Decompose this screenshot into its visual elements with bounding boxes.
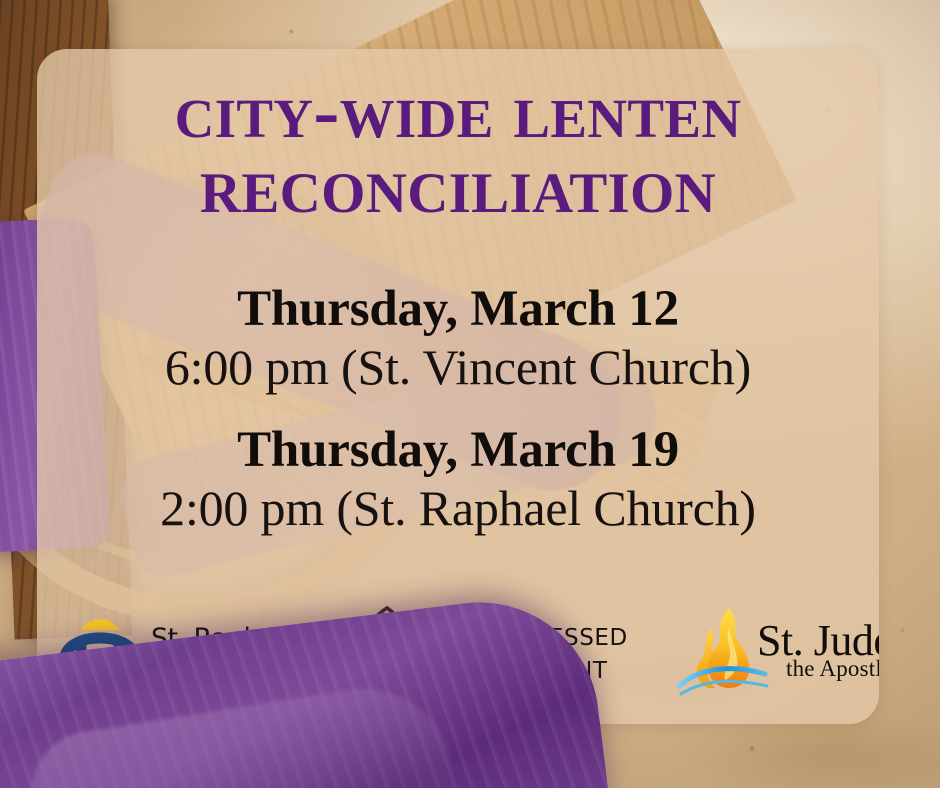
event-date: Thursday, March 19 (37, 422, 879, 479)
poster-canvas: City-Wide Lenten Reconciliation Thursday… (0, 0, 940, 788)
page-title: City-Wide Lenten Reconciliation (37, 75, 879, 222)
flame-with-blue-swoosh-icon (685, 602, 761, 698)
event-item: Thursday, March 19 2:00 pm (St. Raphael … (37, 422, 879, 537)
event-location: 2:00 pm (St. Raphael Church) (37, 479, 879, 537)
logo-wordmark: St. Jude the Apostle (757, 621, 879, 679)
event-location: 6:00 pm (St. Vincent Church) (37, 338, 879, 396)
event-list: Thursday, March 12 6:00 pm (St. Vincent … (37, 281, 879, 537)
title-line-1: City-Wide Lenten (37, 75, 879, 147)
logo-st-jude-the-apostle: St. Jude the Apostle (685, 602, 879, 698)
title-line-2: Reconciliation (37, 147, 879, 222)
event-date: Thursday, March 12 (37, 281, 879, 338)
event-item: Thursday, March 12 6:00 pm (St. Vincent … (37, 281, 879, 396)
